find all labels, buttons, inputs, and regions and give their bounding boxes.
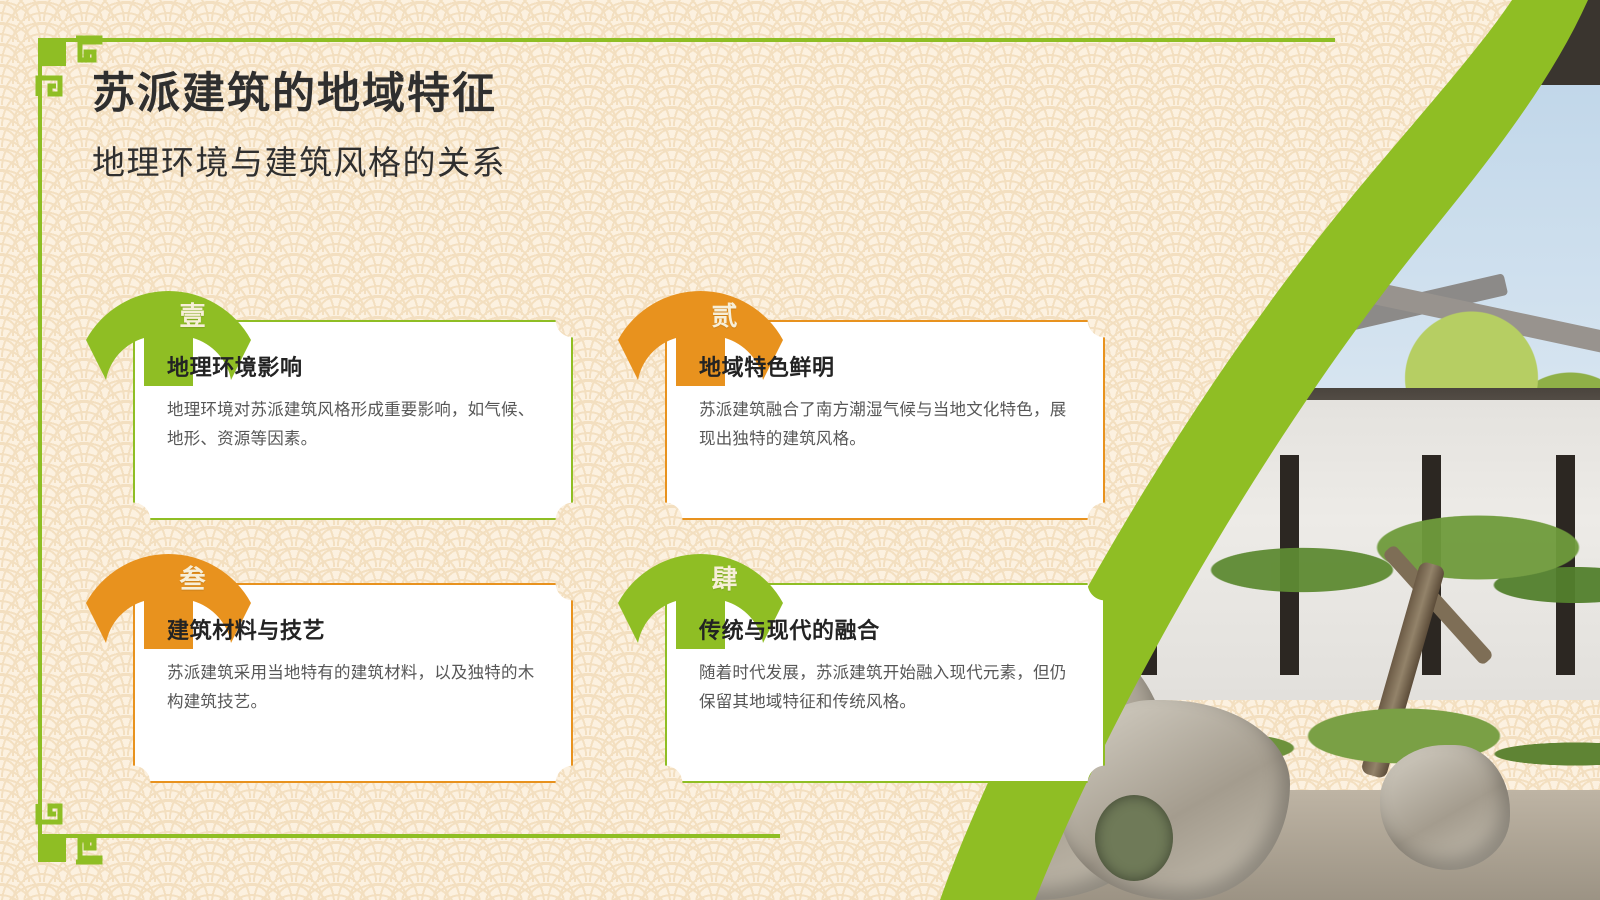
feature-card[interactable]: 壹 地理环境影响 地理环境对苏派建筑风格形成重要影响，如气候、地形、资源等因素。: [133, 320, 573, 520]
card-description: 苏派建筑采用当地特有的建筑材料，以及独特的木构建筑技艺。: [167, 659, 547, 717]
card-numeral: 贰: [695, 296, 755, 333]
feature-card[interactable]: 肆 传统与现代的融合 随着时代发展，苏派建筑开始融入现代元素，但仍保留其地域特征…: [665, 583, 1105, 783]
card-content: 建筑材料与技艺 苏派建筑采用当地特有的建筑材料，以及独特的木构建筑技艺。: [167, 613, 547, 717]
card-title: 建筑材料与技艺: [167, 613, 547, 645]
card-content: 传统与现代的融合 随着时代发展，苏派建筑开始融入现代元素，但仍保留其地域特征和传…: [699, 613, 1079, 717]
card-title: 地理环境影响: [167, 350, 547, 382]
card-description: 地理环境对苏派建筑风格形成重要影响，如气候、地形、资源等因素。: [167, 396, 547, 454]
card-numeral: 肆: [695, 559, 755, 596]
feature-card[interactable]: 贰 地域特色鲜明 苏派建筑融合了南方潮湿气候与当地文化特色，展现出独特的建筑风格…: [665, 320, 1105, 520]
card-content: 地域特色鲜明 苏派建筑融合了南方潮湿气候与当地文化特色，展现出独特的建筑风格。: [699, 350, 1079, 454]
card-numeral: 壹: [163, 296, 223, 333]
card-content: 地理环境影响 地理环境对苏派建筑风格形成重要影响，如气候、地形、资源等因素。: [167, 350, 547, 454]
feature-card-grid: 壹 地理环境影响 地理环境对苏派建筑风格形成重要影响，如气候、地形、资源等因素。…: [0, 0, 1600, 900]
card-description: 随着时代发展，苏派建筑开始融入现代元素，但仍保留其地域特征和传统风格。: [699, 659, 1079, 717]
slide-root: 苏派建筑的地域特征 地理环境与建筑风格的关系 壹 地理环境影响 地理环境对苏派建…: [0, 0, 1600, 900]
card-description: 苏派建筑融合了南方潮湿气候与当地文化特色，展现出独特的建筑风格。: [699, 396, 1079, 454]
feature-card[interactable]: 叁 建筑材料与技艺 苏派建筑采用当地特有的建筑材料，以及独特的木构建筑技艺。: [133, 583, 573, 783]
card-title: 地域特色鲜明: [699, 350, 1079, 382]
card-numeral: 叁: [163, 559, 223, 596]
card-title: 传统与现代的融合: [699, 613, 1079, 645]
